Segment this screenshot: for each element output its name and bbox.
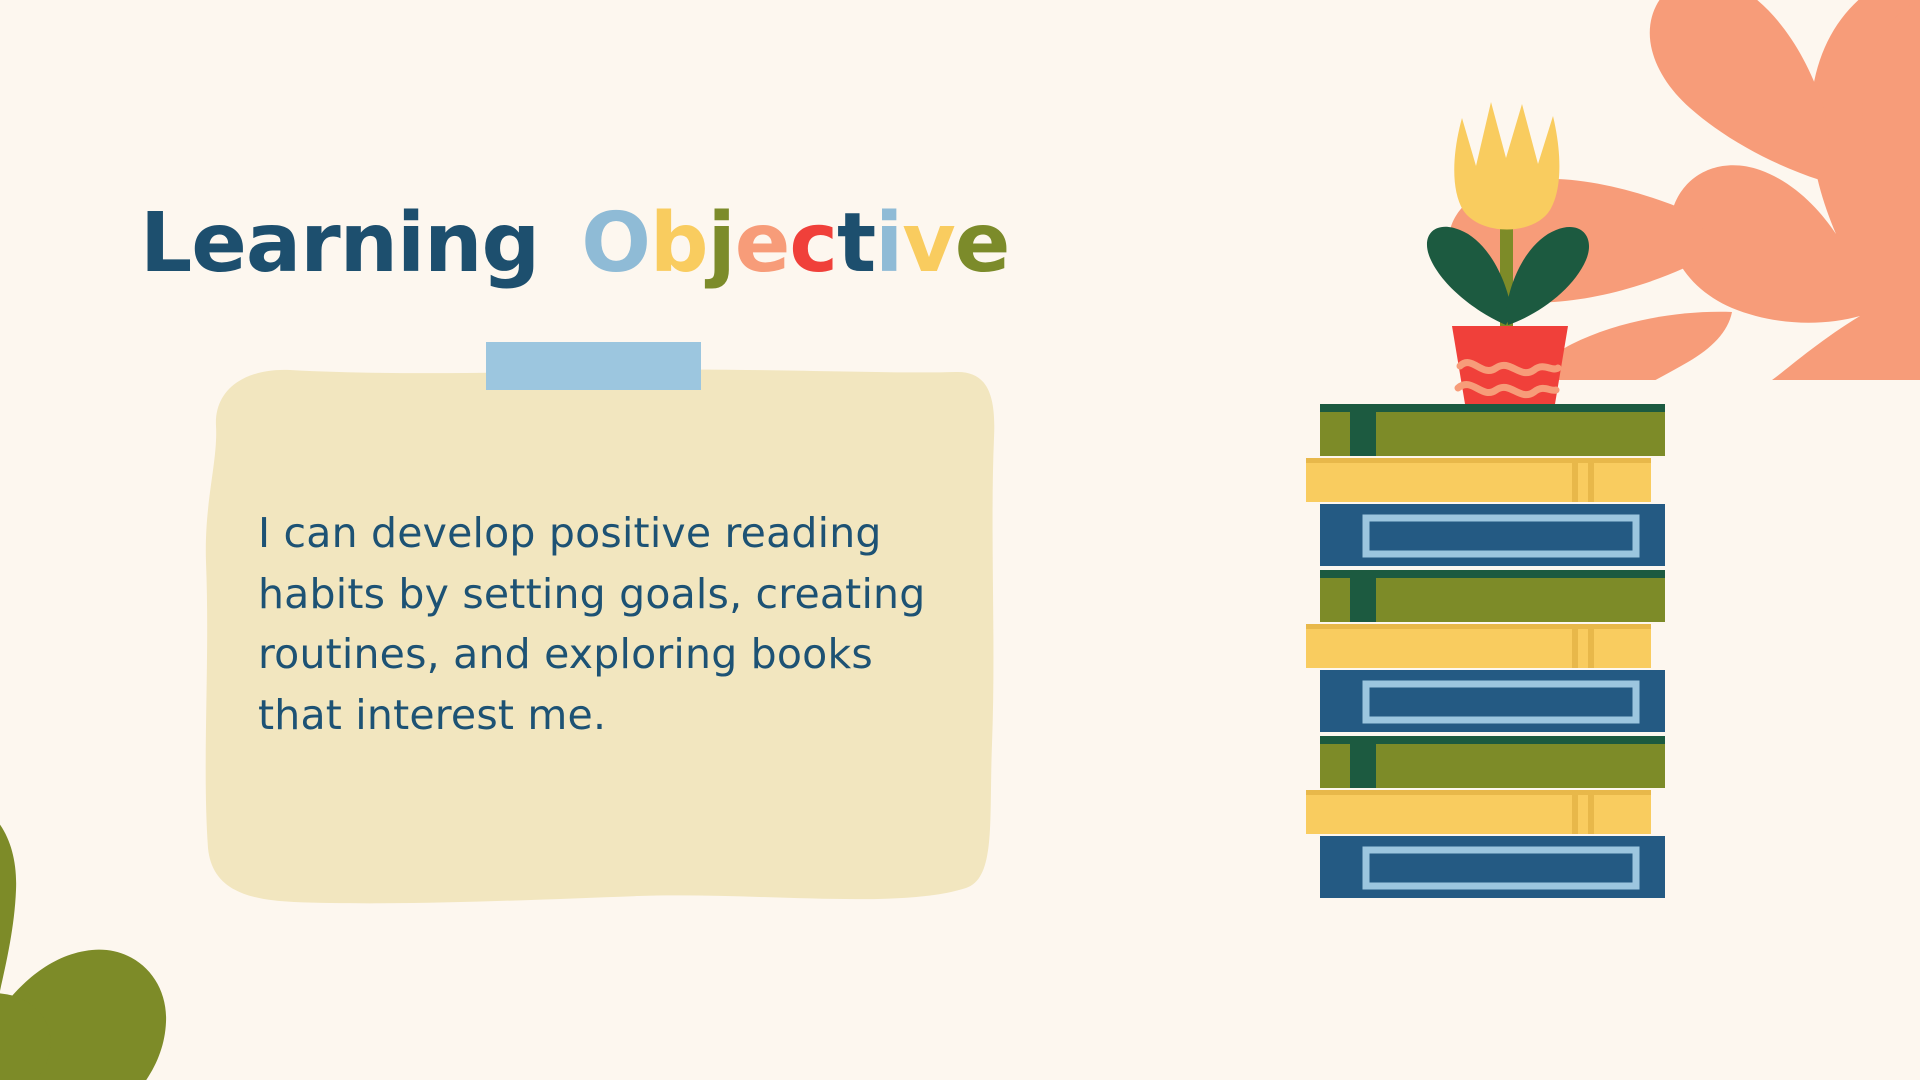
title-letter-0: O [581, 203, 650, 285]
book-navy-1 [1320, 504, 1665, 566]
book-yellow-1 [1306, 458, 1651, 502]
title-word-objective: Objective [581, 196, 1009, 291]
book-olive-3 [1320, 736, 1665, 788]
book-navy-3 [1320, 836, 1665, 898]
title-letter-5: t [837, 203, 875, 285]
title-word-learning: Learning [140, 196, 539, 291]
title-letter-8: e [955, 203, 1010, 285]
title-letter-6: i [875, 203, 902, 285]
title-letter-4: c [789, 203, 837, 285]
book-navy-2 [1320, 670, 1665, 732]
book-olive-2 [1320, 570, 1665, 622]
title-letter-3: e [735, 203, 790, 285]
note-body-text: I can develop positive reading habits by… [258, 503, 958, 746]
title-letter-2: j [708, 203, 735, 285]
potted-tulip-group [1427, 102, 1589, 410]
book-yellow-3 [1306, 790, 1651, 834]
book-stack-illustration [1300, 80, 1720, 970]
page-title: LearningObjective [140, 203, 1009, 285]
slide-canvas: LearningObjective I can develop positive… [0, 0, 1920, 1080]
book-yellow-2 [1306, 624, 1651, 668]
title-letter-1: b [650, 203, 708, 285]
title-letter-7: v [902, 203, 954, 285]
book-olive-1 [1320, 404, 1665, 456]
tape-strip [486, 342, 701, 390]
